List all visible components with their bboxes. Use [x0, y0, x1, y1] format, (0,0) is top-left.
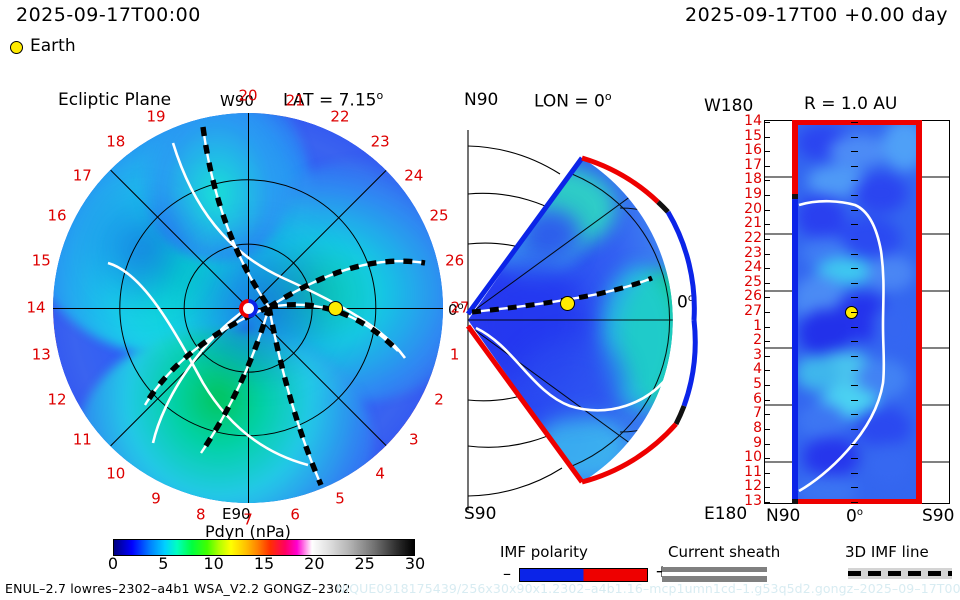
degree-symbol: o: [857, 507, 863, 518]
ecliptic-tick-17: 17: [73, 168, 92, 183]
radial-ytick-mark: [764, 268, 770, 269]
radial-ytick-17: 17: [744, 158, 762, 172]
ecliptic-tick-6: 6: [290, 507, 300, 522]
colorbar-tick-5: 5: [158, 556, 168, 572]
colorbar-tick-25: 25: [354, 556, 374, 572]
radial-center-tick-mark: [851, 312, 858, 313]
ecliptic-tick-3: 3: [409, 433, 419, 448]
radial-xlabel-s90: S90: [922, 508, 954, 525]
polarity-left-negative: [792, 199, 798, 499]
radial-ytick-mark: [764, 297, 770, 298]
radial-center-tick-mark: [851, 414, 858, 415]
xlabel-0-text: 0: [846, 507, 857, 527]
radial-center-tick-mark: [851, 151, 858, 152]
footer-run-id: NIQUE0918175439/256x30x90x1.2302–a4b1.16…: [336, 583, 960, 596]
ecliptic-tick-18: 18: [106, 135, 125, 150]
radial-center-tick-mark: [851, 429, 858, 430]
radial-center-tick-mark: [851, 137, 858, 138]
imf-3d-swatch-dashes: [848, 571, 952, 576]
radial-ytick-mark: [764, 370, 770, 371]
radial-ytick-3: 3: [753, 348, 762, 362]
radial-ytick-mark: [764, 473, 770, 474]
radial-ytick-18: 18: [744, 172, 762, 186]
meridional-plane-panel[interactable]: N90 LON = 0o S90 0o: [462, 98, 702, 528]
radial-ytick-mark: [764, 224, 770, 225]
radial-center-tick-mark: [851, 224, 858, 225]
radial-ytick-mark: [764, 283, 770, 284]
earth-marker: [328, 301, 343, 316]
radial-ytick-12: 12: [744, 479, 762, 493]
meridional-panel-title: LON = 0o: [534, 91, 612, 111]
ecliptic-tick-8: 8: [196, 507, 206, 522]
ecliptic-plane-panel[interactable]: Ecliptic Plane LAT = 7.15o: [28, 98, 448, 518]
radial-ytick-mark: [764, 356, 770, 357]
ecliptic-tick-21: 21: [286, 94, 305, 109]
ecliptic-tick-25: 25: [429, 209, 448, 224]
radial-center-tick-mark: [851, 473, 858, 474]
radial-ytick-9: 9: [753, 436, 762, 450]
radial-ytick-25: 25: [744, 275, 762, 289]
radial-ytick-19: 19: [744, 187, 762, 201]
radial-center-tick-mark: [851, 239, 858, 240]
ecliptic-tick-10: 10: [106, 466, 125, 481]
radial-center-tick-mark: [851, 458, 858, 459]
meridional-pdyn-field: [462, 116, 702, 521]
ecliptic-pdyn-field: [53, 113, 443, 503]
meridional-title-text: LON = 0: [534, 92, 605, 112]
radial-ytick-16: 16: [744, 143, 762, 157]
radial-ytick-1: 1: [753, 319, 762, 333]
radial-ytick-mark: [764, 210, 770, 211]
radial-ytick-14: 14: [744, 114, 762, 128]
ecliptic-tick-5: 5: [335, 492, 345, 507]
radial-ytick-11: 11: [744, 465, 762, 479]
radial-center-tick-mark: [851, 356, 858, 357]
radial-center-tick-mark: [851, 400, 858, 401]
radial-ytick-mark: [764, 414, 770, 415]
radial-xlabel-0: 0o: [846, 508, 863, 526]
radial-center-tick-mark: [851, 385, 858, 386]
model-datetime: 2025-09-17T00:00: [16, 6, 201, 25]
radial-center-tick-mark: [851, 268, 858, 269]
radial-center-tick-mark: [851, 254, 858, 255]
ecliptic-tick-20: 20: [238, 89, 257, 104]
radial-center-tick-mark: [851, 297, 858, 298]
radial-ytick-mark: [764, 487, 770, 488]
radial-ytick-mark: [764, 341, 770, 342]
radial-center-tick-mark: [851, 283, 858, 284]
ecliptic-tick-1: 1: [450, 348, 460, 363]
radial-ytick-2: 2: [753, 333, 762, 347]
colorbar-title: Pdyn (nPa): [205, 524, 291, 540]
ecliptic-tick-2: 2: [434, 392, 444, 407]
xlabel-n90-text: N90: [766, 506, 800, 526]
ecliptic-tick-9: 9: [151, 492, 161, 507]
radial-center-tick-mark: [851, 502, 858, 503]
radial-ytick-23: 23: [744, 246, 762, 260]
radial-ytick-10: 10: [744, 450, 762, 464]
radial-center-tick-mark: [851, 327, 858, 328]
ecliptic-tick-23: 23: [371, 135, 390, 150]
radial-ytick-mark: [764, 429, 770, 430]
polarity-right-positive: [916, 120, 922, 504]
radial-ytick-mark: [764, 166, 770, 167]
radial-ytick-5: 5: [753, 377, 762, 391]
radial-ytick-24: 24: [744, 260, 762, 274]
sun-marker: [239, 299, 258, 318]
imf-3d-legend-title: 3D IMF line: [845, 545, 929, 560]
polarity-left-positive: [792, 120, 798, 194]
degree-symbol: o: [376, 89, 383, 102]
ecliptic-tick-13: 13: [32, 348, 51, 363]
radial-ytick-20: 20: [744, 202, 762, 216]
ecliptic-tick-16: 16: [47, 209, 66, 224]
ecliptic-tick-15: 15: [32, 253, 51, 268]
ecliptic-tick-12: 12: [47, 392, 66, 407]
current-sheath-swatch: [662, 567, 767, 582]
radial-ytick-mark: [764, 312, 770, 313]
radial-xlabel-n90: N90: [766, 508, 800, 525]
radial-ytick-8: 8: [753, 421, 762, 435]
ecliptic-tick-22: 22: [330, 109, 349, 124]
radial-ytick-mark: [764, 458, 770, 459]
earth-marker: [560, 296, 575, 311]
radial-ytick-7: 7: [753, 406, 762, 420]
imf-polarity-swatch: [519, 568, 648, 582]
radial-ytick-22: 22: [744, 231, 762, 245]
earth-legend-label: Earth: [30, 38, 76, 55]
colorbar-tick-15: 15: [254, 556, 274, 572]
radial-1au-panel[interactable]: W180 R = 1.0 AU E180: [742, 110, 958, 510]
imf-polarity-minus: –: [503, 566, 511, 582]
ecliptic-tick-19: 19: [146, 109, 165, 124]
radial-center-tick-mark: [851, 210, 858, 211]
radial-center-tick-mark: [851, 166, 858, 167]
radial-center-tick-mark: [851, 180, 858, 181]
radial-ytick-mark: [764, 239, 770, 240]
ecliptic-panel-title: Ecliptic Plane: [58, 92, 171, 109]
radial-ytick-27: 27: [744, 304, 762, 318]
radial-ytick-mark: [764, 254, 770, 255]
degree-symbol: o: [605, 90, 612, 103]
radial-center-tick-mark: [851, 341, 858, 342]
imf-polarity-legend-title: IMF polarity: [500, 545, 588, 560]
colorbar-tick-10: 10: [203, 556, 223, 572]
radial-ytick-mark: [764, 400, 770, 401]
radial-ytick-mark: [764, 137, 770, 138]
footer-model-version: ENUL–2.7 lowres–2302–a4b1 WSA_V2.2 GONGZ…: [5, 583, 351, 596]
radial-ytick-21: 21: [744, 216, 762, 230]
radial-ytick-mark: [764, 327, 770, 328]
radial-ytick-4: 4: [753, 362, 762, 376]
ecliptic-tick-4: 4: [375, 466, 385, 481]
radial-ytick-13: 13: [744, 494, 762, 508]
radial-ytick-mark: [764, 502, 770, 503]
colorbar-tick-20: 20: [304, 556, 324, 572]
frame-time-label: 2025-09-17T00 +0.00 day: [685, 6, 948, 25]
current-sheath-legend-title: Current sheath: [668, 545, 780, 560]
radial-ytick-mark: [764, 385, 770, 386]
radial-ytick-26: 26: [744, 289, 762, 303]
meridional-label-n90: N90: [464, 92, 498, 109]
colorbar-tick-0: 0: [108, 556, 118, 572]
radial-label-e180: E180: [704, 506, 747, 523]
radial-ytick-mark: [764, 122, 770, 123]
earth-marker-icon: [10, 41, 23, 54]
ecliptic-tick-11: 11: [73, 433, 92, 448]
ecliptic-tick-14: 14: [26, 301, 45, 316]
radial-center-tick-mark: [851, 195, 858, 196]
radial-center-tick-mark: [851, 122, 858, 123]
colorbar-tick-30: 30: [405, 556, 425, 572]
radial-ytick-15: 15: [744, 129, 762, 143]
radial-ytick-6: 6: [753, 392, 762, 406]
radial-center-tick-mark: [851, 370, 858, 371]
radial-ytick-mark: [764, 195, 770, 196]
radial-ytick-mark: [764, 151, 770, 152]
xlabel-s90-text: S90: [922, 506, 954, 526]
radial-ytick-mark: [764, 444, 770, 445]
radial-center-tick-mark: [851, 487, 858, 488]
polarity-bottom-edge: [798, 499, 922, 504]
radial-center-tick-mark: [851, 444, 858, 445]
ecliptic-tick-24: 24: [404, 168, 423, 183]
radial-ytick-mark: [764, 180, 770, 181]
